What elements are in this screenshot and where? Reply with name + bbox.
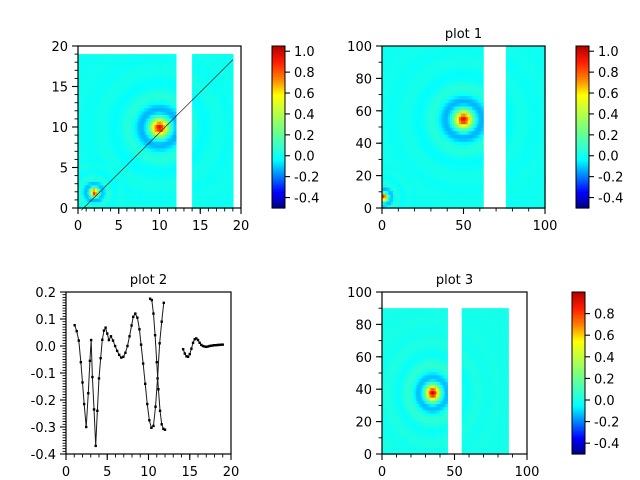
data-point-marker [124, 352, 126, 354]
data-point-marker [154, 406, 156, 408]
y-tick-label: 20 [355, 170, 372, 185]
data-point-marker [140, 343, 142, 345]
x-tick-label: 0 [74, 219, 82, 234]
data-point-marker [122, 356, 124, 358]
colorbar-tick-label: 0.8 [598, 66, 619, 81]
data-point-marker [110, 335, 112, 337]
data-point-marker [161, 423, 163, 425]
colorbar-tick-label: 0.0 [598, 150, 619, 165]
data-point-marker [146, 403, 148, 405]
data-point-marker [154, 334, 156, 336]
x-tick-label: 0 [62, 465, 70, 480]
y-tick-label: 40 [355, 383, 372, 398]
data-point-marker [136, 316, 138, 318]
y-tick-label: 0.0 [35, 340, 56, 355]
colorbar-tick-label: 0.2 [294, 129, 315, 144]
colorbar-tick-label: 0.2 [598, 129, 619, 144]
data-point-marker [87, 392, 89, 394]
data-point-marker [144, 383, 146, 385]
data-point-marker [198, 342, 200, 344]
y-axis: 020406080100 [347, 286, 382, 463]
y-tick-label: 20 [51, 40, 68, 55]
y-tick-label: 0 [60, 202, 68, 217]
y-tick-label: 0.2 [35, 286, 56, 301]
y-tick-label: 10 [51, 121, 68, 136]
data-point-marker [132, 316, 134, 318]
data-point-marker [197, 339, 199, 341]
y-tick-label: 60 [355, 351, 372, 366]
data-point-marker [106, 332, 108, 334]
axes-frame [66, 292, 231, 454]
data-point-marker [81, 381, 83, 383]
y-tick-label: 0 [364, 448, 372, 463]
colorbar: 1.00.80.60.40.20.0-0.2-0.4 [576, 45, 623, 208]
data-point-marker [161, 321, 163, 323]
x-tick-label: 100 [515, 465, 540, 480]
data-point-marker [164, 429, 166, 431]
y-tick-label: -0.4 [31, 448, 56, 463]
y-tick-label: -0.3 [31, 421, 56, 436]
data-point-marker [83, 403, 85, 405]
y-axis: 020406080100 [347, 40, 382, 217]
data-point-marker [192, 342, 194, 344]
data-point-marker [189, 353, 191, 355]
colorbar-tick-label: 0.8 [594, 308, 615, 323]
data-point-marker [152, 312, 154, 314]
colorbar-tick-label: -0.2 [594, 416, 619, 431]
data-point-marker [150, 427, 152, 429]
panel-title: plot 3 [436, 273, 473, 288]
data-point-marker [108, 339, 110, 341]
panel-bottom-right: plot 30501000204060801000.80.60.40.20.0-… [320, 240, 640, 480]
data-point-marker [114, 345, 116, 347]
colorbar-tick-label: 0.6 [598, 87, 619, 102]
data-point-marker [158, 342, 160, 344]
colorbar-tick-label: 0.6 [294, 87, 315, 102]
y-tick-label: 80 [355, 72, 372, 87]
data-point-marker [182, 348, 184, 350]
colorbar-tick-label: 0.8 [294, 66, 315, 81]
figure-canvas: 05101520051015201.00.80.60.40.20.0-0.2-0… [0, 0, 640, 480]
heatmap-image [78, 54, 234, 209]
y-tick-label: 60 [355, 105, 372, 120]
colorbar-tick-label: 0.0 [594, 394, 615, 409]
data-point-marker [130, 324, 132, 326]
data-point-marker [128, 335, 130, 337]
panel-top-left: 05101520051015201.00.80.60.40.20.0-0.2-0… [0, 0, 320, 240]
data-point-marker [190, 348, 192, 350]
x-tick-label: 0 [378, 465, 386, 480]
panel-title: plot 2 [130, 273, 167, 288]
data-point-marker [163, 302, 165, 304]
colorbar-tick-label: 0.4 [598, 108, 619, 123]
data-point-marker [80, 361, 82, 363]
data-point-marker [184, 352, 186, 354]
data-point-marker [151, 299, 153, 301]
y-tick-label: 0 [364, 202, 372, 217]
y-axis: 0.20.10.0-0.1-0.2-0.3-0.4 [31, 286, 66, 463]
data-point-marker [99, 357, 101, 359]
data-point-marker [95, 445, 97, 447]
minor-ticks [63, 292, 232, 458]
data-point-marker [159, 410, 161, 412]
y-tick-label: 40 [355, 137, 372, 152]
y-tick-label: 5 [60, 162, 68, 177]
data-point-marker [89, 360, 91, 362]
x-tick-label: 50 [446, 465, 463, 480]
colorbar-tick-label: 0.6 [594, 329, 615, 344]
colorbar-tick-label: -0.2 [294, 171, 319, 186]
y-tick-label: 100 [347, 40, 372, 55]
x-tick-label: 5 [103, 465, 111, 480]
data-point-marker [142, 362, 144, 364]
data-point-marker [73, 324, 75, 326]
data-point-marker [222, 343, 224, 345]
x-tick-label: 15 [181, 465, 198, 480]
data-point-marker [103, 329, 105, 331]
data-point-marker [157, 388, 159, 390]
colorbar-tick-label: 0.4 [594, 351, 615, 366]
y-tick-label: 80 [355, 318, 372, 333]
data-point-marker [187, 356, 189, 358]
colorbar-tick-label: 1.0 [598, 45, 619, 60]
data-point-marker [156, 361, 158, 363]
y-tick-label: 0.1 [35, 313, 56, 328]
data-point-marker [85, 426, 87, 428]
panel-top-right: plot 10501000204060801001.00.80.60.40.20… [320, 0, 640, 240]
y-tick-label: 20 [355, 416, 372, 431]
data-point-marker [148, 419, 150, 421]
x-tick-label: 100 [533, 219, 558, 234]
y-tick-label: 15 [51, 81, 68, 96]
heatmap-image [382, 46, 546, 209]
x-tick-label: 20 [223, 465, 240, 480]
x-tick-label: 20 [233, 219, 250, 234]
x-axis: 05101520 [74, 208, 249, 234]
colorbar-tick-label: 0.2 [594, 372, 615, 387]
colorbar: 1.00.80.60.40.20.0-0.2-0.4 [272, 45, 319, 208]
x-tick-label: 0 [378, 219, 386, 234]
data-point-marker [91, 376, 93, 378]
colorbar-tick-label: -0.4 [594, 437, 619, 452]
data-point-marker [90, 339, 92, 341]
x-tick-label: 5 [115, 219, 123, 234]
data-point-marker [112, 339, 114, 341]
data-point-marker [98, 377, 100, 379]
colorbar-tick-label: -0.2 [598, 171, 623, 186]
data-point-marker [134, 312, 136, 314]
data-point-marker [104, 326, 106, 328]
colorbar-tick-label: 0.4 [294, 108, 315, 123]
x-tick-label: 15 [192, 219, 209, 234]
data-point-marker [76, 330, 78, 332]
y-tick-label: -0.2 [31, 394, 56, 409]
x-axis: 05101520 [62, 454, 239, 480]
data-series-line [75, 303, 164, 446]
data-point-marker [152, 425, 154, 427]
colorbar-tick-label: -0.4 [294, 192, 319, 207]
data-point-marker [118, 354, 120, 356]
data-series-line [150, 299, 165, 430]
colorbar-tick-label: -0.4 [598, 192, 623, 207]
data-point-marker [126, 345, 128, 347]
x-tick-label: 50 [455, 219, 472, 234]
y-tick-label: 100 [347, 286, 372, 301]
x-axis: 050100 [378, 208, 558, 234]
colorbar-tick-label: 0.0 [294, 150, 315, 165]
x-axis: 050100 [378, 454, 540, 480]
panel-title: plot 1 [445, 27, 482, 42]
data-point-marker [101, 339, 103, 341]
x-tick-label: 10 [151, 219, 168, 234]
heatmap-image [382, 308, 509, 455]
data-point-marker [116, 350, 118, 352]
colorbar-tick-label: 1.0 [294, 45, 315, 60]
panel-bottom-left: plot 2051015200.20.10.0-0.1-0.2-0.3-0.4 [0, 240, 320, 480]
data-point-marker [120, 356, 122, 358]
data-point-marker [138, 328, 140, 330]
data-point-marker [96, 410, 98, 412]
colorbar: 0.80.60.40.20.0-0.2-0.4 [572, 292, 619, 455]
data-point-marker [93, 408, 95, 410]
y-axis: 05101520 [51, 40, 78, 217]
x-tick-label: 10 [140, 465, 157, 480]
data-point-marker [78, 339, 80, 341]
y-tick-label: -0.1 [31, 367, 56, 382]
